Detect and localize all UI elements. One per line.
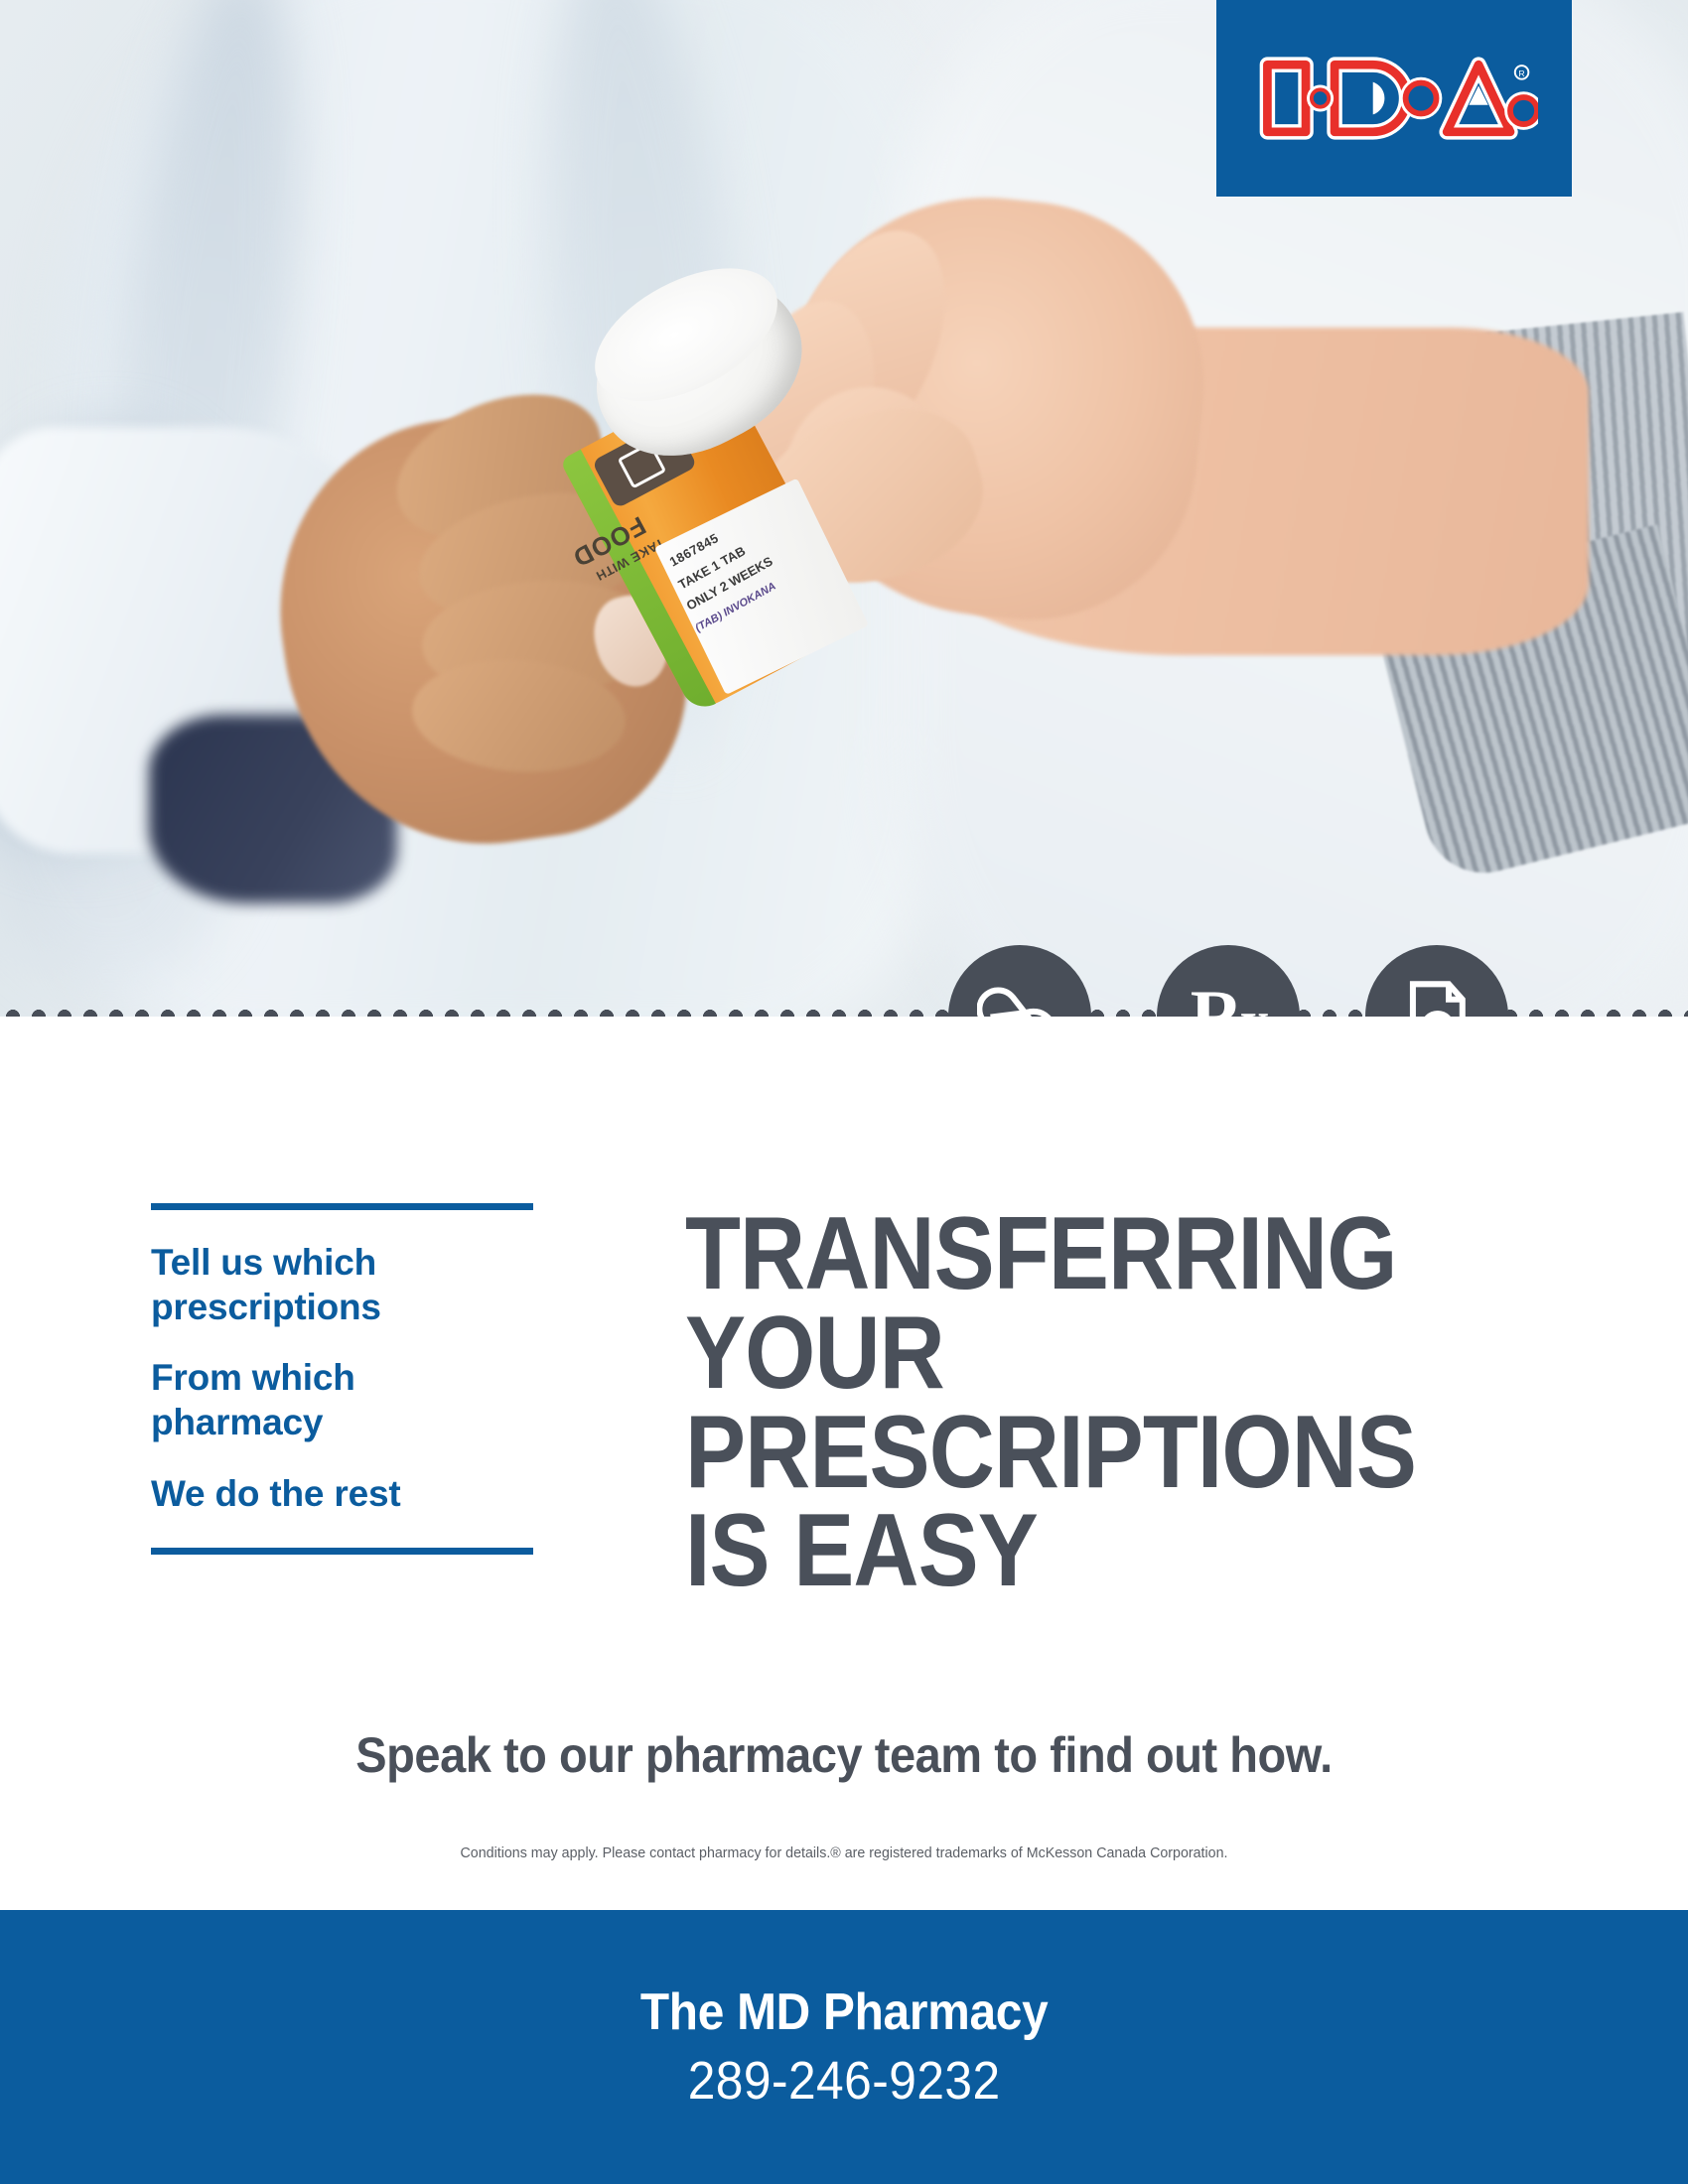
headline-line: TRANSFERRING <box>685 1205 1472 1304</box>
steps-list: Tell us which prescriptions From which p… <box>151 1203 533 1555</box>
step-item: Tell us which prescriptions <box>151 1240 533 1329</box>
footer-band: The MD Pharmacy 289-246-9232 <box>0 1910 1688 2184</box>
main-content: Tell us which prescriptions From which p… <box>0 1017 1688 1910</box>
steps-rule-top <box>151 1203 533 1210</box>
poster: FOOD TAKE WITH 1867845 TAKE 1 TAB ONLY 2… <box>0 0 1688 2184</box>
step-item: From which pharmacy <box>151 1355 533 1444</box>
steps-rule-bottom <box>151 1548 533 1555</box>
headline-line: PRESCRIPTIONS <box>685 1404 1472 1503</box>
ida-logo: R <box>1216 0 1572 197</box>
hero-photo: FOOD TAKE WITH 1867845 TAKE 1 TAB ONLY 2… <box>0 0 1688 1017</box>
pharmacy-phone[interactable]: 289-246-9232 <box>688 2050 1001 2112</box>
headline-line: IS EASY <box>685 1502 1472 1601</box>
fine-print: Conditions may apply. Please contact pha… <box>43 1844 1646 1861</box>
pharmacy-name: The MD Pharmacy <box>640 1982 1049 2042</box>
headline-line: YOUR <box>685 1304 1472 1404</box>
page-title: TRANSFERRING YOUR PRESCRIPTIONS IS EASY <box>685 1205 1472 1601</box>
ida-logo-icon: R <box>1250 44 1538 153</box>
step-item: We do the rest <box>151 1471 533 1516</box>
subheadline: Speak to our pharmacy team to find out h… <box>51 1726 1637 1784</box>
svg-text:R: R <box>1518 68 1524 78</box>
